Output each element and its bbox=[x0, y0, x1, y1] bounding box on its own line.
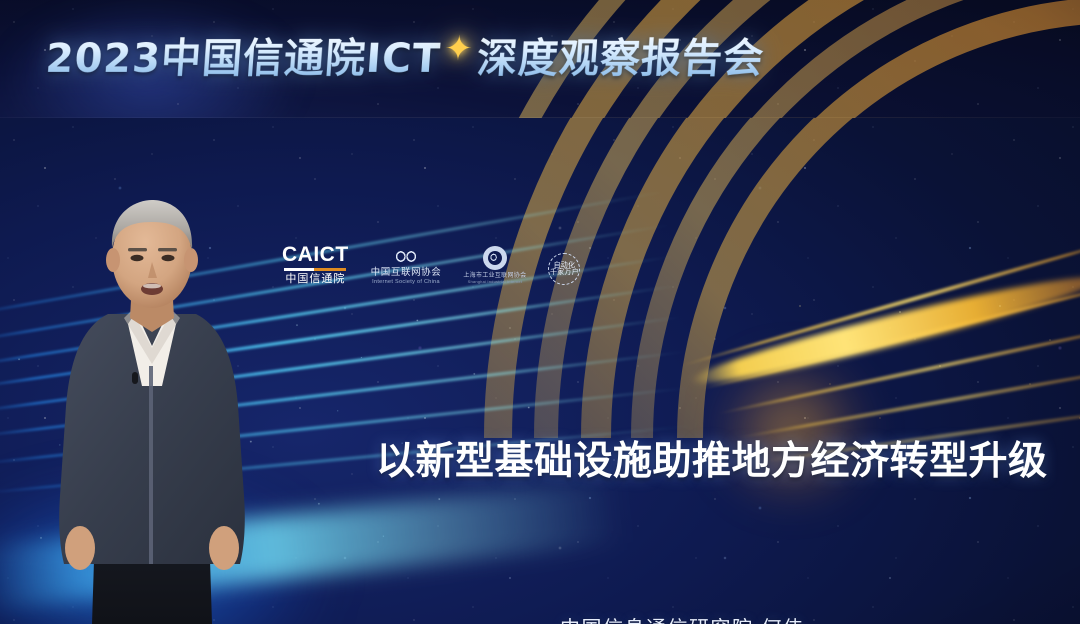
isc-name-en: Internet Society of China bbox=[372, 279, 440, 286]
gear-badge-line1: 自动化 bbox=[554, 262, 576, 269]
sponsor-logo-row: CAICT 中国信通院 中国互联网协会 Internet Society of … bbox=[282, 244, 580, 285]
caict-name-cn: 中国信通院 bbox=[285, 273, 345, 285]
logo-caict: CAICT 中国信通院 bbox=[282, 244, 349, 285]
slide-main-title: 以新型基础设施助推地方经济转型升级 bbox=[376, 430, 1048, 486]
event-banner-strip: 2023中国信通院ICT ✦ 深度观察报告会 bbox=[0, 0, 1080, 118]
broadcast-stage: 2023中国信通院ICT ✦ 深度观察报告会 bbox=[0, 0, 1080, 624]
event-title-suffix: 深度观察报告会 bbox=[475, 26, 766, 84]
interlocking-rings-icon bbox=[393, 248, 419, 265]
gear-swirl-icon bbox=[483, 246, 507, 270]
event-title: 2023中国信通院ICT ✦ 深度观察报告会 bbox=[44, 26, 766, 84]
shii-name-en: Shanghai Industrial Internet bbox=[468, 280, 523, 285]
logo-shanghai-industrial-internet: 上海市工业互联网协会 Shanghai Industrial Internet bbox=[463, 246, 526, 285]
logo-internet-society-china: 中国互联网协会 Internet Society of China bbox=[371, 248, 442, 286]
dashed-gear-icon: 自动化 千家万户 bbox=[548, 253, 580, 285]
gear-badge-line2: 千家万户 bbox=[550, 269, 579, 276]
sparkle-star-icon: ✦ bbox=[443, 32, 475, 66]
event-title-prefix: 2023中国信通院ICT bbox=[44, 26, 443, 84]
caict-acronym: CAICT bbox=[282, 244, 349, 265]
logo-gear-badge: 自动化 千家万户 bbox=[548, 253, 580, 285]
isc-name-cn: 中国互联网协会 bbox=[371, 268, 442, 279]
presenter-video-overlay bbox=[44, 196, 260, 624]
caict-rule bbox=[284, 268, 346, 271]
slide-presenter-credit: 中国信息通信研究院 何伟 bbox=[560, 612, 804, 624]
